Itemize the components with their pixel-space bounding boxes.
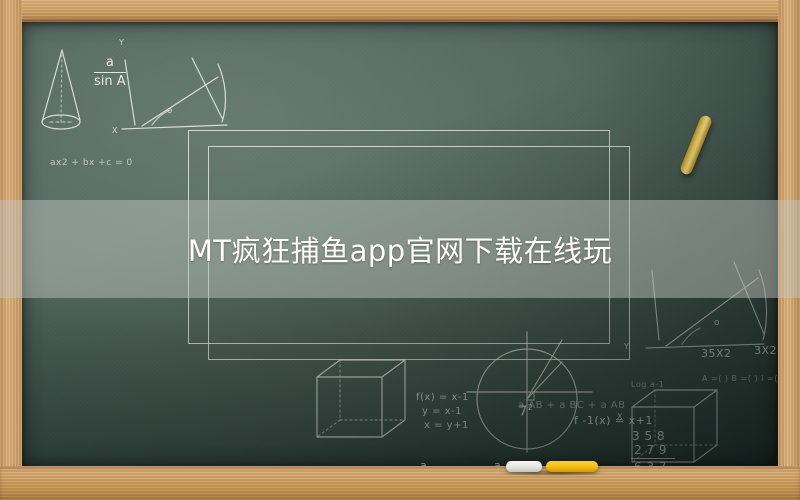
yellow-chalk-stick-ledge	[546, 461, 598, 472]
angle-label-left: o	[167, 106, 173, 116]
cube-diagram-center	[317, 360, 405, 437]
axis-x-label-right: X	[617, 412, 623, 421]
function-line-1: f(x) = x-1	[416, 392, 469, 403]
power-seven: 72	[519, 403, 533, 419]
function-line-2: y = x-1	[422, 406, 462, 417]
fraction-a-over-sinA-topleft: a sin A	[94, 56, 126, 88]
angle-diagram-left	[122, 58, 227, 129]
inverse-function-text: f -1(x) = x+1	[574, 414, 653, 427]
log-inverse-text: Log a-1	[631, 380, 664, 389]
chalkboard-banner: a sin A ax2 + bx +c = 0 Y X o f(x) = x-1…	[0, 0, 800, 500]
fraction-bar	[94, 72, 126, 73]
page-title: MT疯狂捕鱼app官网下载在线玩	[0, 200, 800, 298]
quadratic-equation-text: ax2 + bx +c = 0	[50, 158, 133, 168]
axis-y-label-left: Y	[119, 38, 124, 47]
matrix-label-3x2: 3X2	[754, 344, 777, 357]
power-seven-exponent: 2	[528, 403, 534, 412]
matrix-label-35x2: 35X2	[701, 347, 732, 360]
white-chalk-stick-ledge	[506, 461, 542, 472]
frame-bottom-ledge	[0, 466, 800, 500]
arithmetic-row-2: 2 7 9	[634, 443, 667, 457]
frame-top-rail	[0, 0, 800, 22]
arithmetic-row-1: 3 5 8	[632, 429, 665, 443]
axis-x-label-left: X	[112, 126, 118, 135]
arithmetic-rule	[631, 458, 675, 459]
fraction-a-over-sinA-bottomleft: a sin A	[410, 460, 437, 466]
faint-expression: a AB + a BC + a AB	[518, 400, 625, 411]
matrix-row-text: A =( ) B =( ) I =( )	[702, 374, 778, 383]
yellow-chalk-stick-top	[679, 114, 713, 176]
cone-diagram	[42, 50, 80, 129]
function-line-3: x = y+1	[424, 420, 469, 431]
angle-label-right: o	[714, 318, 720, 328]
arithmetic-sum: 6 3 7	[634, 460, 667, 466]
